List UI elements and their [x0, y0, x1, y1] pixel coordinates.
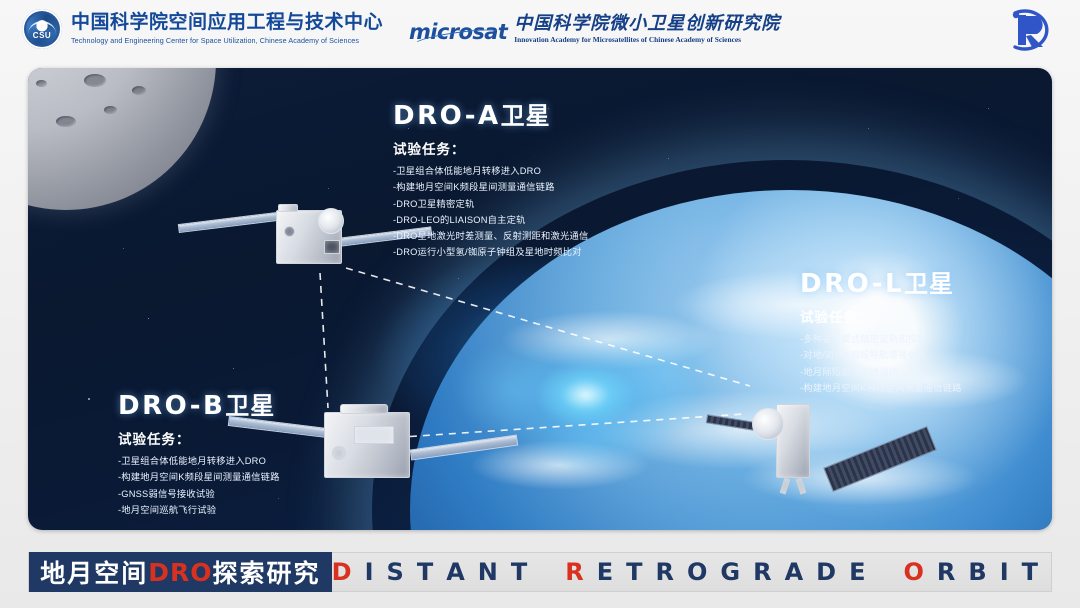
footer-en-letter: R	[753, 558, 784, 586]
mission-item: -对地/对月K频段导航增强信号	[800, 347, 962, 363]
poster-root: 中国科学院空间应用工程与技术中心 Technology and Engineer…	[0, 0, 1080, 608]
dro-b-info-block: DRO-B卫星 试验任务： -卫星组合体低能地月转移进入DRO -构建地月空间K…	[118, 386, 280, 518]
footer-en-letter: D	[332, 558, 365, 586]
footer-en-letter: A	[785, 558, 817, 586]
dro-a-info-block: DRO-A卫星 试验任务： -卫星组合体低能地月转移进入DRO -构建地月空间K…	[393, 96, 589, 261]
mission-item: -多种姿态模式精密定轨和授时	[800, 331, 962, 347]
mission-item: -DRO-LEO的LIAISON自主定轨	[393, 212, 589, 228]
microsat-name-en: Innovation Academy for Microsatellites o…	[514, 35, 780, 44]
dro-b-mission-list: -卫星组合体低能地月转移进入DRO -构建地月空间K频段星间测量通信链路 -GN…	[118, 453, 280, 518]
orbit-r-monogram-icon	[1002, 9, 1054, 51]
dro-a-mission-label: 试验任务：	[393, 138, 589, 158]
dro-l-mission-list: -多种姿态模式精密定轨和授时 -对地/对月K频段导航增强信号 -地月际短报文中继…	[800, 331, 962, 396]
org-name-cn: 中国科学院空间应用工程与技术中心	[71, 13, 383, 34]
footer-en-letter: T	[626, 558, 655, 586]
footer-en-letter: I	[365, 558, 387, 586]
footer-en-letter	[879, 558, 904, 586]
dro-l-title-cn: 卫星	[904, 271, 954, 298]
mission-item: -DRO星地激光时差测量、反射测距和激光通信	[393, 228, 589, 244]
footer-en-letter: R	[937, 558, 968, 586]
footer-en-letter: S	[387, 558, 417, 586]
footer-en-letter: E	[849, 558, 878, 586]
mission-item: -地月际短报文中继通信	[800, 364, 962, 380]
dro-l-info-block: DRO-L卫星 试验任务： -多种姿态模式精密定轨和授时 -对地/对月K频段导航…	[800, 264, 962, 396]
space-scene-image: DRO-A卫星 试验任务： -卫星组合体低能地月转移进入DRO -构建地月空间K…	[28, 68, 1052, 530]
header-bar: 中国科学院空间应用工程与技术中心 Technology and Engineer…	[0, 0, 1080, 58]
footer-en-letter: I	[1000, 558, 1022, 586]
mission-item: -DRO卫星精密定轨	[393, 196, 589, 212]
org-name-en: Technology and Engineering Center for Sp…	[71, 36, 383, 45]
footer-cn-post: 探索研究	[212, 554, 320, 590]
footer-en-letter: A	[446, 558, 478, 586]
footer-en-letter: G	[720, 558, 753, 586]
dro-b-title: DRO-B卫星	[118, 386, 280, 421]
dro-a-title-en: DRO-A	[393, 101, 501, 131]
dro-a-title: DRO-A卫星	[393, 96, 589, 131]
footer-en-letter: T	[1022, 558, 1051, 586]
dro-b-title-en: DRO-B	[118, 391, 225, 421]
footer-en-letter: T	[511, 558, 540, 586]
csu-logo: 中国科学院空间应用工程与技术中心 Technology and Engineer…	[22, 9, 383, 49]
dro-b-title-cn: 卫星	[225, 393, 275, 420]
mission-item: -DRO运行小型氢/铷原子钟组及星地时频比对	[393, 244, 589, 260]
footer-title-en: DISTANT RETROGRADE ORBIT	[332, 558, 1051, 586]
mission-item: -构建地月空间K频段星间测量通信链路	[393, 179, 589, 195]
satellite-dro-l-image	[706, 386, 936, 506]
dro-l-title: DRO-L卫星	[800, 264, 962, 299]
footer-en-letter: N	[478, 558, 511, 586]
footer-en-letter: E	[597, 558, 626, 586]
footer-en-letter: B	[968, 558, 999, 586]
dro-a-mission-list: -卫星组合体低能地月转移进入DRO -构建地月空间K频段星间测量通信链路 -DR…	[393, 163, 589, 261]
microsat-wordmark: microsat	[409, 20, 509, 44]
footer-en-letter: R	[656, 558, 687, 586]
mission-item: -卫星组合体低能地月转移进入DRO	[118, 453, 280, 469]
footer-cn-dro: DRO	[148, 558, 212, 587]
mission-item: -构建地月空间K频段星间测量通信链路	[800, 380, 962, 396]
footer-en-letter: D	[816, 558, 849, 586]
footer-title-cn: 地月空间DRO探索研究	[29, 552, 332, 592]
dro-a-title-cn: 卫星	[501, 103, 551, 130]
dro-l-mission-label: 试验任务：	[800, 306, 962, 326]
footer-en-letter: O	[904, 558, 937, 586]
dro-l-title-en: DRO-L	[800, 269, 904, 299]
footer-en-letter: T	[417, 558, 446, 586]
footer-banner: 地月空间DRO探索研究 DISTANT RETROGRADE ORBIT	[28, 552, 1052, 592]
mission-item: -GNSS弱信号接收试验	[118, 486, 280, 502]
microsat-name-cn: 中国科学院微小卫星创新研究院	[514, 14, 780, 32]
footer-en-letter: O	[687, 558, 720, 586]
dro-b-mission-label: 试验任务：	[118, 428, 280, 448]
footer-en-letter: R	[565, 558, 596, 586]
csu-emblem-icon	[22, 9, 62, 49]
mission-item: -构建地月空间K频段星间测量通信链路	[118, 469, 280, 485]
mission-item: -卫星组合体低能地月转移进入DRO	[393, 163, 589, 179]
footer-en-letter	[540, 558, 565, 586]
footer-cn-pre: 地月空间	[40, 554, 148, 590]
microsat-logo: microsat 中国科学院微小卫星创新研究院 Innovation Acade…	[409, 14, 780, 44]
mission-item: -地月空间巡航飞行试验	[118, 502, 280, 518]
satellite-dro-a-image	[178, 196, 428, 296]
